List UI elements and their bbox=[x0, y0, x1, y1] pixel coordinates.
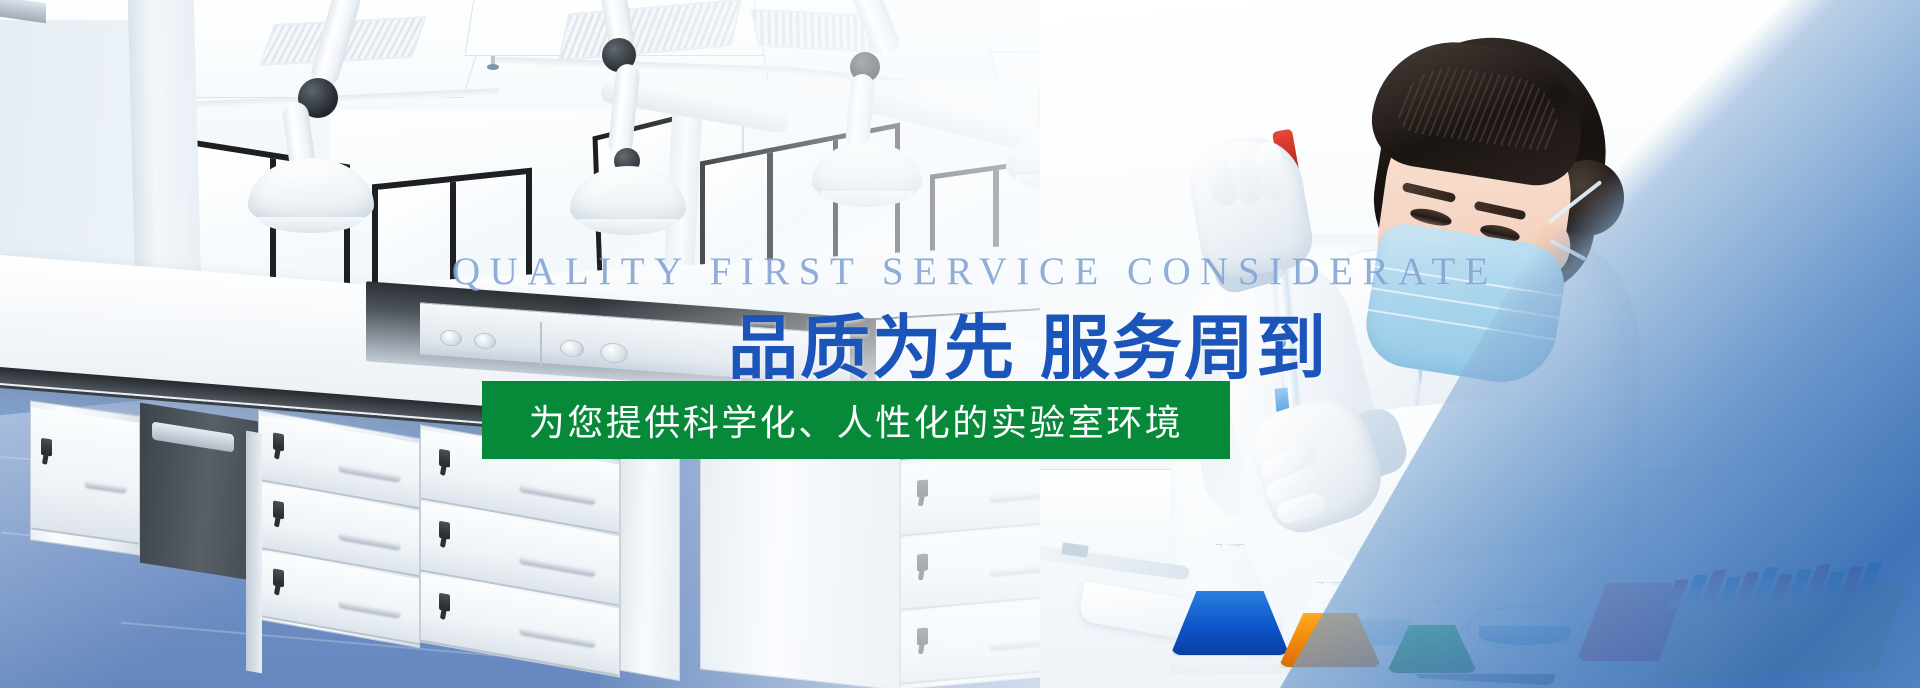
drawer bbox=[31, 407, 139, 544]
drawer-cabinet bbox=[258, 410, 420, 649]
headline-chinese: 品质为先服务周到 bbox=[728, 292, 1328, 393]
arm-segment bbox=[308, 0, 364, 90]
arm-segment bbox=[845, 73, 875, 149]
pendant-extraction-arm bbox=[560, 0, 690, 280]
pendant-extraction-arm bbox=[270, 0, 390, 290]
cabinet-lock-icon bbox=[917, 627, 928, 645]
service-module-divider bbox=[540, 322, 542, 370]
cabinet-lock-icon bbox=[917, 479, 928, 497]
subtitle-text: 为您提供科学化、人性化的实验室环境 bbox=[529, 394, 1184, 446]
hero-banner: QUALITY FIRST SERVICE CONSIDERATE 品质为先服务… bbox=[0, 0, 1920, 688]
sprinkler-head-icon bbox=[487, 56, 499, 72]
arm-segment bbox=[607, 63, 640, 157]
cabinet-lock-icon bbox=[273, 433, 284, 452]
petri-dish bbox=[1466, 606, 1584, 650]
headline-chinese-part2: 服务周到 bbox=[1040, 309, 1328, 387]
cabinet-lock-icon bbox=[439, 449, 450, 468]
glove-finger bbox=[1256, 141, 1284, 201]
bench-side-panel bbox=[246, 431, 262, 674]
cabinet-lock-icon bbox=[917, 553, 928, 571]
cabinet-end-panel bbox=[620, 445, 680, 682]
cabinet-lock-icon bbox=[273, 569, 284, 588]
drawer-cabinet bbox=[420, 424, 620, 677]
drawer-cabinet bbox=[30, 400, 140, 555]
cabinet-lock-icon bbox=[439, 521, 450, 540]
arm-segment bbox=[845, 0, 903, 60]
headline-chinese-part1: 品质为先 bbox=[728, 309, 1016, 387]
cabinet-lock-icon bbox=[41, 438, 52, 457]
cabinet-lock-icon bbox=[273, 501, 284, 520]
subtitle-green-banner: 为您提供科学化、人性化的实验室环境 bbox=[482, 381, 1230, 459]
cabinet-lock-icon bbox=[439, 593, 450, 612]
cabinet-end-panel bbox=[700, 429, 900, 688]
extraction-hood bbox=[570, 166, 686, 230]
pendant-extraction-arm bbox=[830, 0, 960, 276]
headline-english: QUALITY FIRST SERVICE CONSIDERATE bbox=[452, 249, 1498, 294]
